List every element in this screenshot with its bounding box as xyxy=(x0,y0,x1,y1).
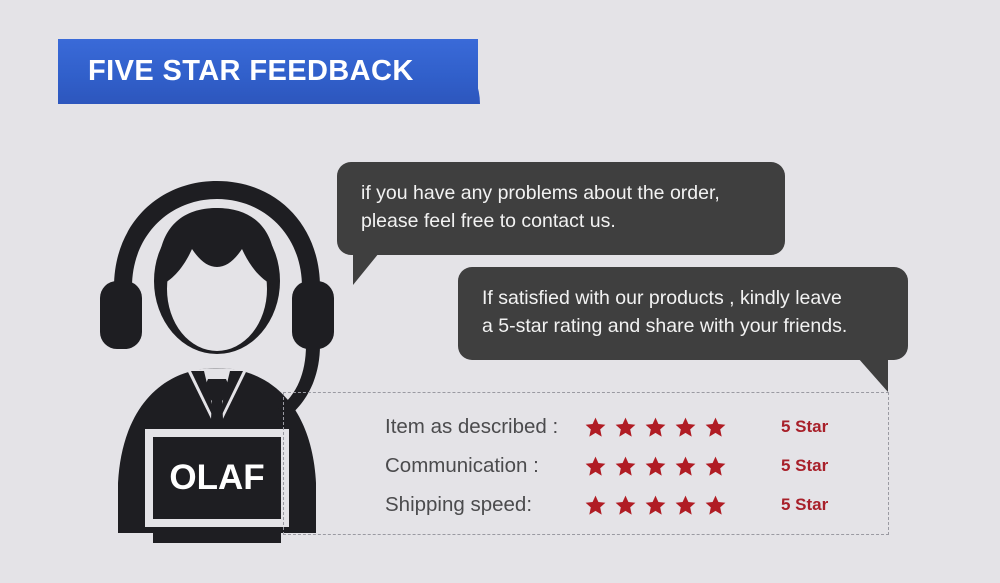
star-icon[interactable] xyxy=(615,417,636,438)
speech-bubble-rating-request: If satisfied with our products , kindly … xyxy=(458,267,908,360)
star-icon[interactable] xyxy=(705,495,726,516)
rating-value: 5 Star xyxy=(781,417,828,437)
bubble-support-line-1: if you have any problems about the order… xyxy=(361,180,763,208)
star-rating[interactable] xyxy=(585,495,754,516)
bubble-tail-bottom-left xyxy=(353,253,379,285)
rating-label: Communication : xyxy=(385,454,585,478)
star-icon[interactable] xyxy=(615,495,636,516)
star-icon[interactable] xyxy=(645,417,666,438)
star-icon[interactable] xyxy=(585,456,606,477)
feedback-banner-graphic: FIVE STAR FEEDBACK xyxy=(0,0,1000,583)
bubble-support-line-2: please feel free to contact us. xyxy=(361,208,763,236)
rating-row: Communication :5 Star xyxy=(385,447,828,485)
bubble-rating-line-2: a 5-star rating and share with your frie… xyxy=(482,313,886,341)
bubble-tail-bottom-right xyxy=(858,358,888,392)
star-icon[interactable] xyxy=(675,456,696,477)
laptop-device: OLAF xyxy=(145,429,289,543)
star-icon[interactable] xyxy=(675,495,696,516)
star-rating[interactable] xyxy=(585,456,754,477)
laptop-brand-label: OLAF xyxy=(169,458,264,497)
star-icon[interactable] xyxy=(645,495,666,516)
rating-value: 5 Star xyxy=(781,495,828,515)
bubble-rating-line-1: If satisfied with our products , kindly … xyxy=(482,285,886,313)
star-icon[interactable] xyxy=(615,456,636,477)
rating-row: Shipping speed:5 Star xyxy=(385,486,828,524)
speech-bubble-support: if you have any problems about the order… xyxy=(337,162,785,255)
star-icon[interactable] xyxy=(645,456,666,477)
star-icon[interactable] xyxy=(585,417,606,438)
star-icon[interactable] xyxy=(705,456,726,477)
page-title: FIVE STAR FEEDBACK xyxy=(88,39,414,104)
rating-value: 5 Star xyxy=(781,456,828,476)
star-icon[interactable] xyxy=(675,417,696,438)
star-rating[interactable] xyxy=(585,417,754,438)
star-icon[interactable] xyxy=(585,495,606,516)
rating-label: Shipping speed: xyxy=(385,493,585,517)
rating-label: Item as described : xyxy=(385,415,585,439)
rating-row: Item as described :5 Star xyxy=(385,408,828,446)
star-icon[interactable] xyxy=(705,417,726,438)
ratings-list: Item as described :5 StarCommunication :… xyxy=(385,408,828,524)
